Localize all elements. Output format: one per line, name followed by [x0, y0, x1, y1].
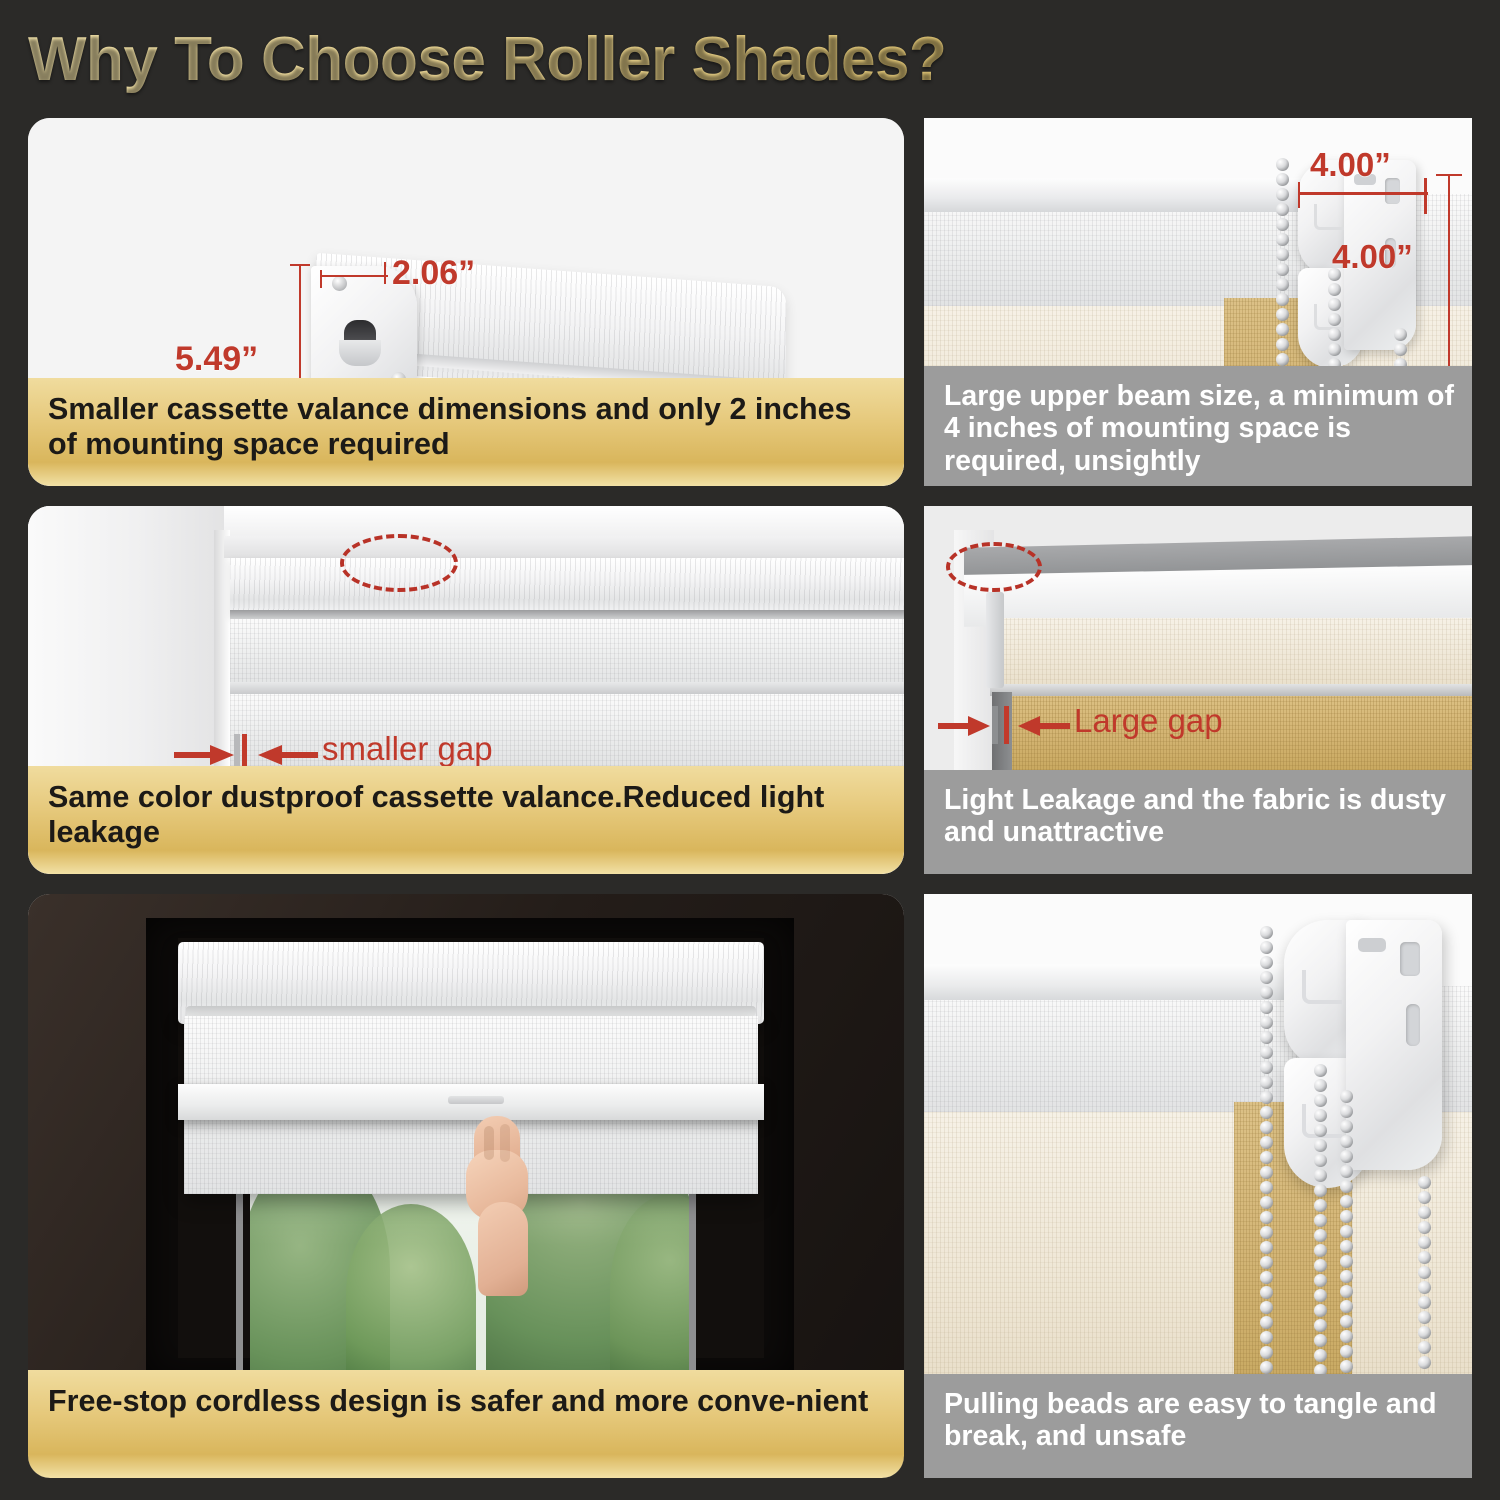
caption-upper-beam-size: Large upper beam size, a minimum of 4 in…: [924, 366, 1472, 486]
page-title: Why To Choose Roller Shades?: [28, 18, 1468, 102]
panel-dustproof-valance: smaller gap Same color dustproof cassett…: [28, 506, 904, 874]
annotation-height-dimension: 4.00”: [1332, 238, 1413, 276]
arrow-left-icon: [1016, 712, 1070, 740]
caption-cassette-dimensions: Smaller cassette valance dimensions and …: [28, 378, 904, 486]
panel-pulling-beads: Pulling beads are easy to tangle and bre…: [924, 894, 1472, 1478]
panel-light-leakage: Large gap Light Leakage and the fabric i…: [924, 506, 1472, 874]
bead-chain: [1260, 926, 1273, 1378]
annotation-gap-callout: smaller gap: [322, 730, 493, 768]
highlight-ring: [946, 542, 1042, 592]
panel-cassette-dimensions: 2.06” 5.49” Smaller cassette valance dim…: [28, 118, 904, 486]
caption-light-leakage: Light Leakage and the fabric is dusty an…: [924, 770, 1472, 874]
annotation-gap-callout: Large gap: [1074, 702, 1223, 740]
bead-chain: [1314, 1064, 1327, 1378]
caption-pulling-beads: Pulling beads are easy to tangle and bre…: [924, 1374, 1472, 1478]
annotation-width-dimension: 4.00”: [1310, 146, 1391, 184]
annotation-width-dimension: 2.06”: [392, 254, 475, 293]
bead-chain: [1340, 1090, 1353, 1378]
page-header: Why To Choose Roller Shades?: [28, 18, 1468, 102]
annotation-height-dimension: 5.49”: [175, 340, 258, 379]
panel-upper-beam-size: 4.00” 4.00” Large upper beam size, a min…: [924, 118, 1472, 486]
arrow-right-icon: [938, 712, 992, 740]
caption-dustproof-valance: Same color dustproof cassette valance.Re…: [28, 766, 904, 874]
panel-cordless-design: Free-stop cordless design is safer and m…: [28, 894, 904, 1478]
hand-illustration: [460, 1116, 538, 1288]
bead-chain: [1418, 1176, 1431, 1378]
highlight-ring: [340, 534, 458, 592]
comparison-grid: 2.06” 5.49” Smaller cassette valance dim…: [28, 118, 1472, 1478]
caption-cordless-design: Free-stop cordless design is safer and m…: [28, 1370, 904, 1478]
